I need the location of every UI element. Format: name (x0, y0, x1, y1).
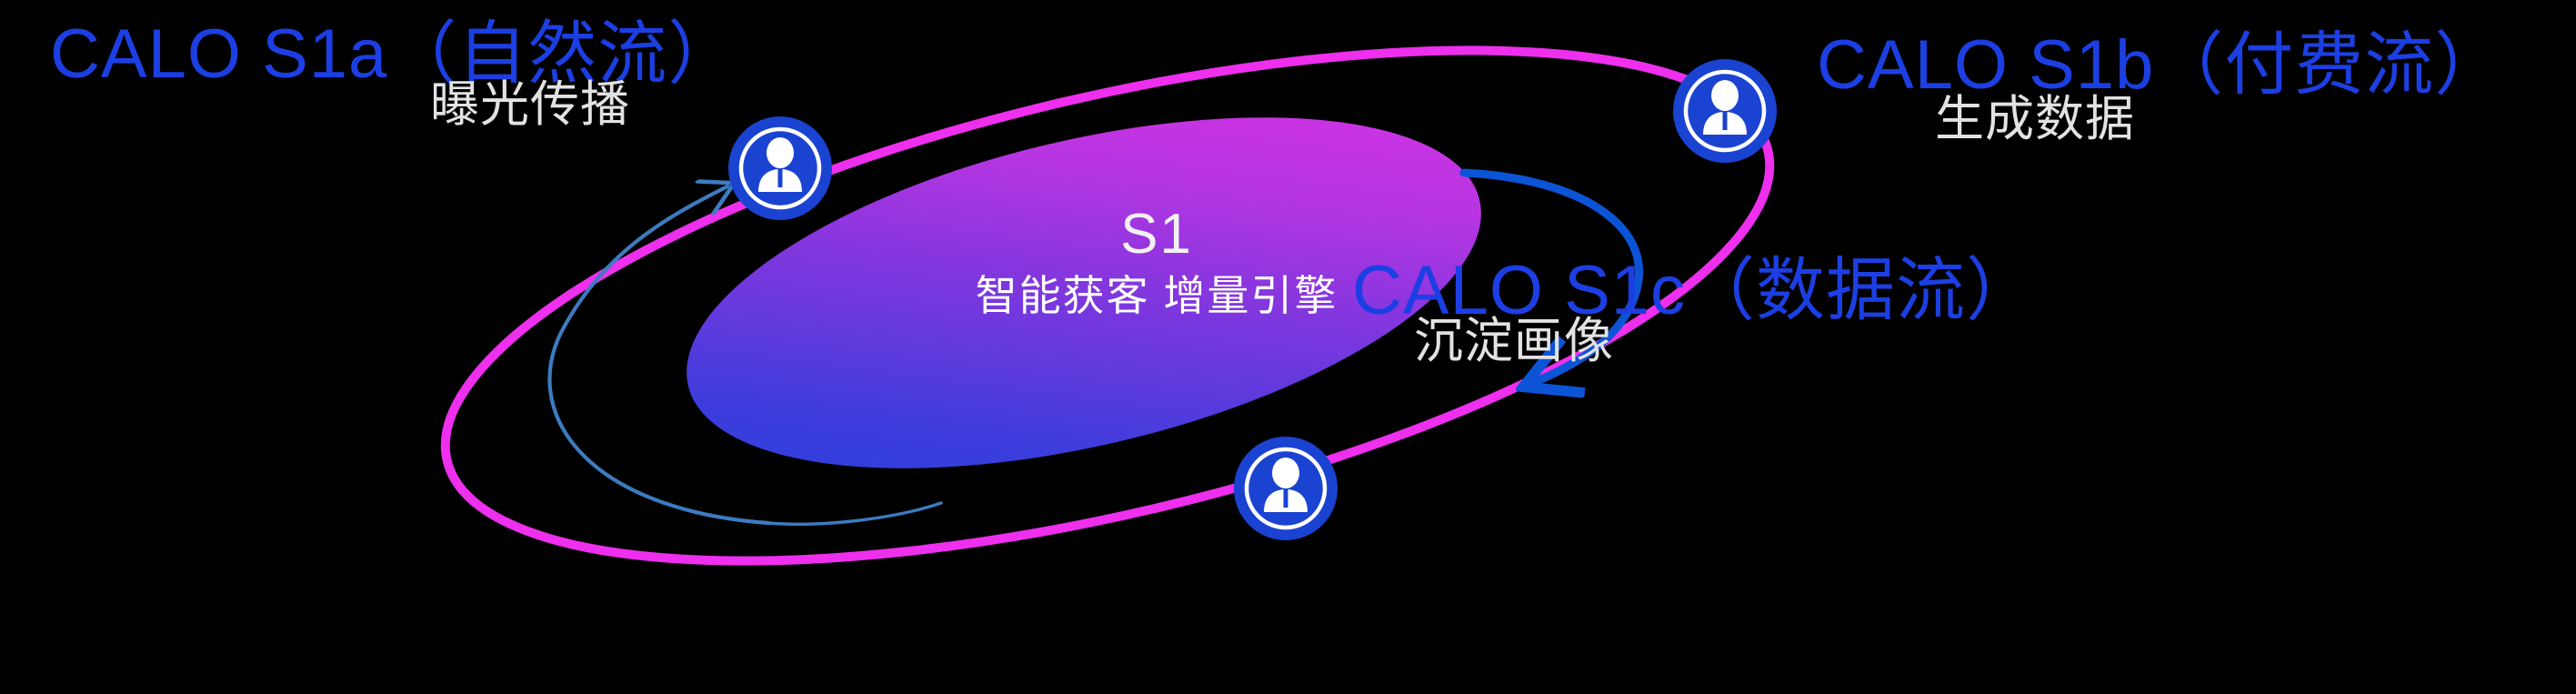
node-title-s1a: CALO S1a（自然流） (50, 20, 737, 89)
core-subtitle: 智能获客 增量引擎 (866, 271, 1448, 321)
node-icon-s1b[interactable] (1673, 59, 1777, 163)
left-flow-arrow-tail (768, 503, 941, 524)
node-icon-s1a[interactable] (728, 116, 832, 220)
node-icon-s1c[interactable] (1234, 437, 1338, 540)
core-title: S1 (866, 205, 1448, 264)
core-label-group: S1 智能获客 增量引擎 (866, 205, 1448, 321)
diagram-canvas: CALO S1a（自然流） 曝光传播 CALO S1b（付费流） 生成数据 CA… (0, 0, 2576, 694)
node-sublabel-s1c: 沉淀画像 (1414, 317, 1614, 366)
node-sublabel-s1a: 曝光传播 (430, 80, 630, 129)
orbit-diagram-graphics (0, 0, 2576, 694)
node-title-s1b: CALO S1b（付费流） (1817, 31, 2504, 100)
node-sublabel-s1b: 生成数据 (1935, 95, 2135, 144)
